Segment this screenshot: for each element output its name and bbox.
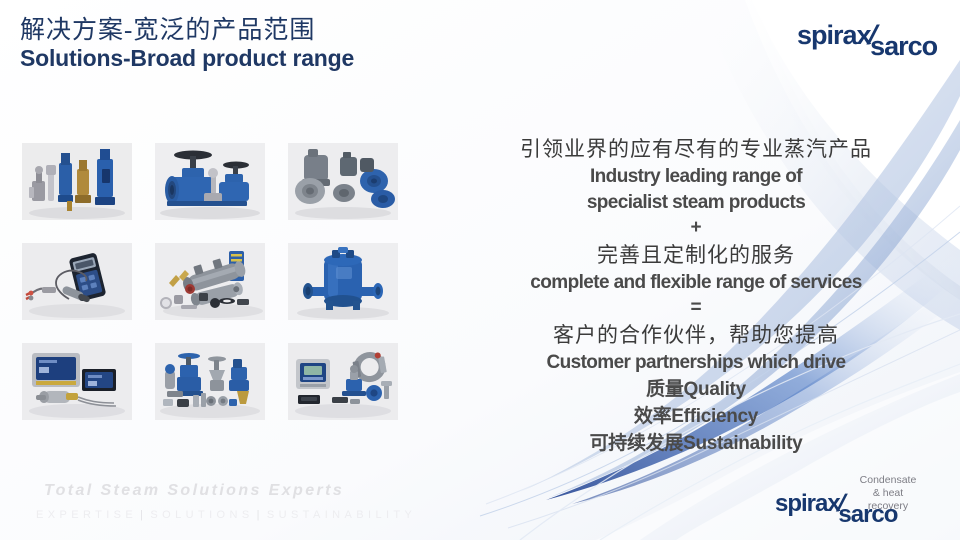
product-image-steam-traps <box>288 143 398 220</box>
message-line-4-cn: 完善且定制化的服务 <box>500 240 892 270</box>
footer-separator-1: | <box>137 509 150 521</box>
message-line-2-en: Industry leading range of <box>500 164 892 190</box>
message-value-quality: 质量Quality <box>500 376 892 403</box>
caption-line-1: Condensate <box>828 474 948 487</box>
product-image-flow-metering-systems <box>288 343 398 420</box>
footer-tagline: Total Steam Solutions Experts <box>44 482 344 500</box>
message-line-6-cn: 客户的合作伙伴，帮助您提高 <box>500 320 892 350</box>
product-image-control-valve-range <box>155 343 265 420</box>
operator-plus: + <box>500 216 892 240</box>
footer-pillar-expertise: EXPERTISE <box>36 509 137 521</box>
message-line-1-cn: 引领业界的应有尽有的专业蒸汽产品 <box>500 134 892 164</box>
product-image-grid <box>22 143 398 420</box>
footer-separator-2: | <box>254 509 267 521</box>
message-block: 引领业界的应有尽有的专业蒸汽产品 Industry leading range … <box>500 134 892 457</box>
logo-text-sarco: sarco <box>870 33 937 60</box>
page-title-chinese: 解决方案-宽泛的产品范围 <box>20 16 354 45</box>
page-title-english: Solutions-Broad product range <box>20 45 354 72</box>
message-line-3-en: specialist steam products <box>500 190 892 216</box>
message-line-5-en: complete and flexible range of services <box>500 270 892 296</box>
message-value-sustainability: 可持续发展Sustainability <box>500 430 892 457</box>
footer-pillar-sustainability: SUSTAINABILITY <box>267 509 416 521</box>
product-image-control-valves <box>155 143 265 220</box>
logo-text-spirax-bottom: spirax <box>775 490 840 517</box>
product-image-handheld-test-meter <box>22 243 132 320</box>
message-value-efficiency: 效率Efficiency <box>500 403 892 430</box>
logo-text-sarco-bottom: sarco <box>838 503 897 527</box>
product-image-condensate-recovery-pump <box>288 243 398 320</box>
operator-equals: = <box>500 296 892 320</box>
message-line-7-en: Customer partnerships which drive <box>500 350 892 376</box>
footer-pillars: EXPERTISE|SOLUTIONS|SUSTAINABILITY <box>36 509 416 521</box>
slide-canvas: 解决方案-宽泛的产品范围 Solutions-Broad product ran… <box>0 0 960 540</box>
product-image-safety-relief-valves <box>22 143 132 220</box>
product-image-heat-exchangers-components <box>155 243 265 320</box>
product-image-boiler-level-controls <box>22 343 132 420</box>
spirax-sarco-logo-top: spirax/sarco <box>797 22 937 49</box>
logo-text-spirax: spirax <box>797 20 871 50</box>
spirax-sarco-logo-bottom: spirax/sarco <box>775 492 897 516</box>
page-title: 解决方案-宽泛的产品范围 Solutions-Broad product ran… <box>20 16 354 72</box>
footer-pillar-solutions: SOLUTIONS <box>150 509 253 521</box>
